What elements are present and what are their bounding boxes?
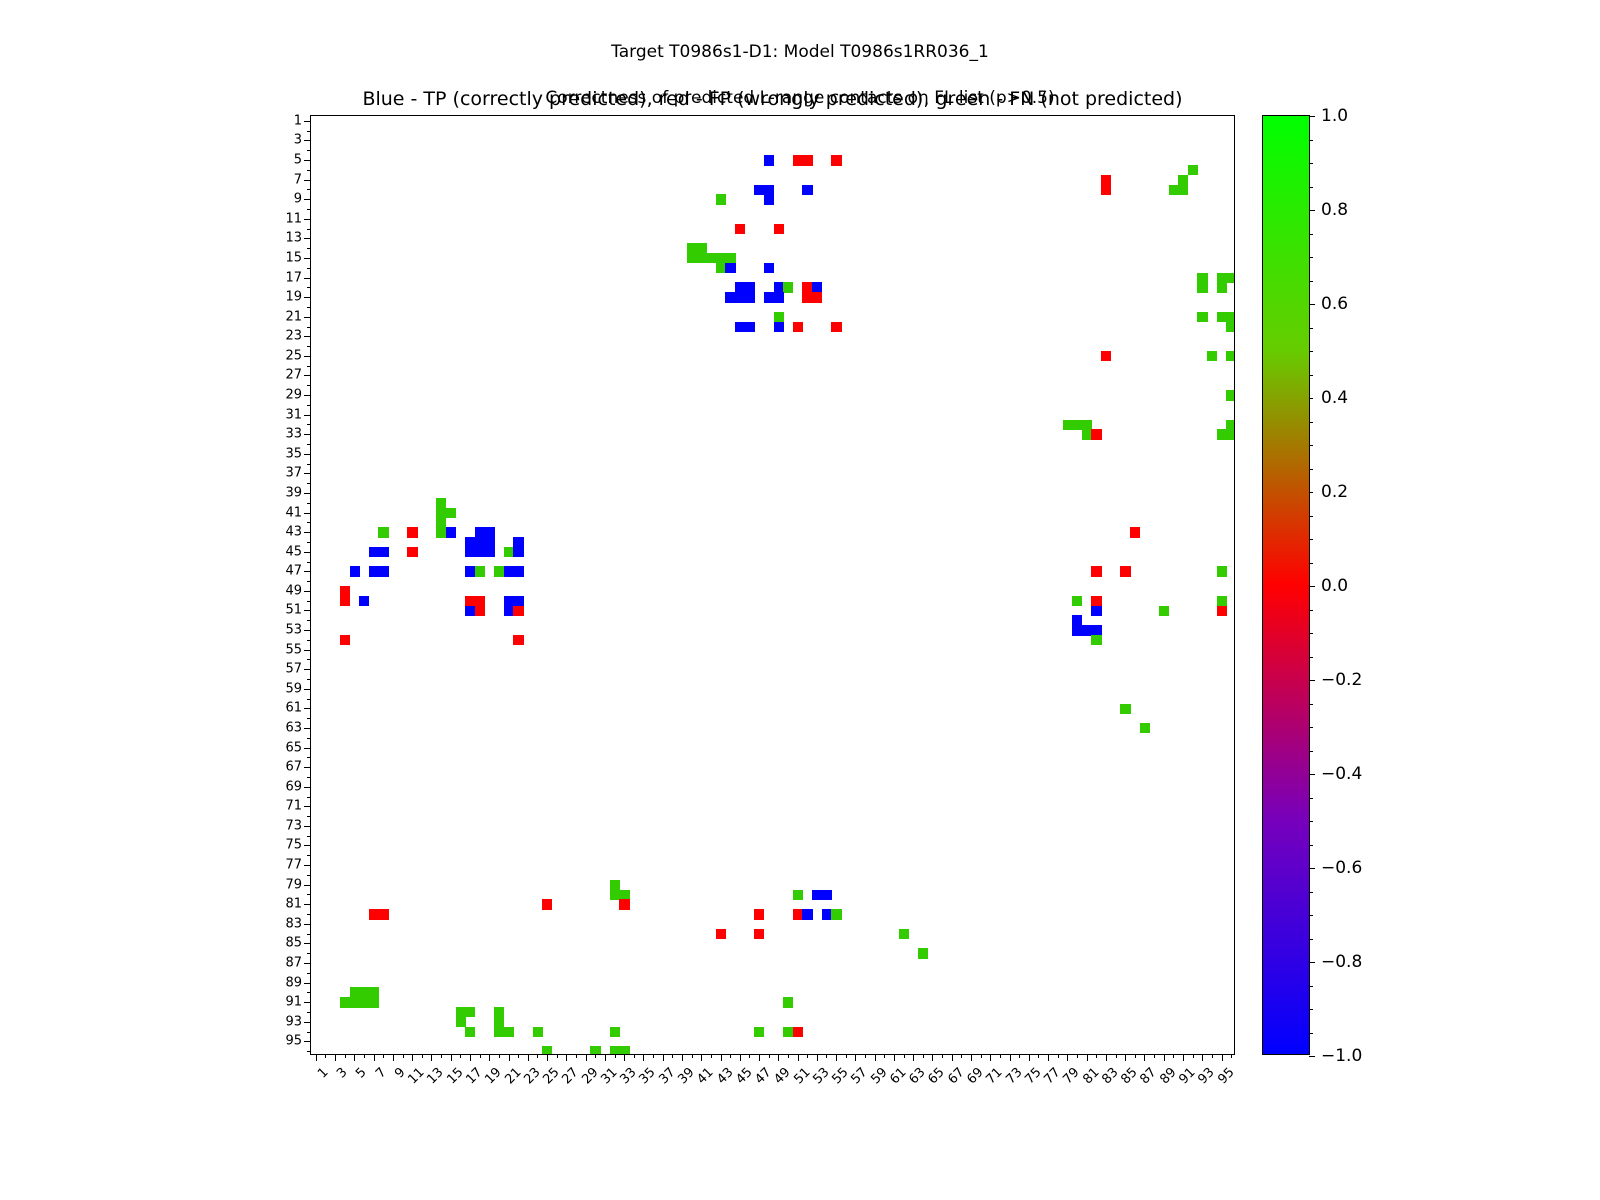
x-axis-tick xyxy=(807,1054,808,1058)
x-axis-tick xyxy=(643,1054,644,1061)
y-axis-tick xyxy=(304,845,311,846)
contact-cell-fn xyxy=(619,1046,629,1054)
x-axis-tick xyxy=(653,1054,654,1058)
y-axis-tick xyxy=(304,728,311,729)
y-axis-tick xyxy=(307,268,311,269)
y-axis-tick-label: 29 xyxy=(242,388,302,403)
contact-cell-fn xyxy=(378,527,388,537)
x-axis-tick xyxy=(1154,1054,1155,1058)
colorbar-tick xyxy=(1309,234,1313,235)
contact-cell-fn xyxy=(783,1027,793,1037)
contact-cell-fn xyxy=(1188,165,1198,175)
colorbar-tick xyxy=(1309,516,1313,517)
x-axis-tick xyxy=(1164,1054,1165,1061)
y-axis-tick xyxy=(304,415,311,416)
colorbar-tick xyxy=(1309,1056,1315,1057)
y-axis-tick xyxy=(304,493,311,494)
contact-cell-fn xyxy=(1197,312,1207,322)
y-axis-tick xyxy=(304,630,311,631)
x-axis-tick xyxy=(894,1054,895,1061)
x-axis-tick xyxy=(711,1054,712,1058)
y-axis-tick-label: 69 xyxy=(242,779,302,794)
contact-cell-fp xyxy=(754,929,764,939)
x-axis-tick xyxy=(875,1054,876,1061)
contact-cell-fp xyxy=(774,224,784,234)
x-axis-tick xyxy=(403,1054,404,1058)
x-axis-tick xyxy=(904,1054,905,1058)
contact-cell-fn xyxy=(610,1027,620,1037)
colorbar-tick xyxy=(1309,798,1313,799)
y-axis-tick-label: 57 xyxy=(242,662,302,677)
contact-cell-fp xyxy=(754,909,764,919)
y-axis-tick-label: 27 xyxy=(242,368,302,383)
x-axis-tick xyxy=(547,1054,548,1061)
y-axis-tick xyxy=(304,1022,311,1023)
x-axis-tick xyxy=(663,1054,664,1061)
y-axis-tick xyxy=(304,983,311,984)
x-axis-tick xyxy=(499,1054,500,1058)
y-axis-tick xyxy=(307,718,311,719)
y-axis-tick xyxy=(304,219,311,220)
y-axis-tick xyxy=(307,444,311,445)
contact-cell-tp xyxy=(359,596,369,606)
x-axis-tick xyxy=(441,1054,442,1058)
x-axis-tick xyxy=(817,1054,818,1061)
y-axis-tick xyxy=(307,170,311,171)
y-axis-tick-label: 53 xyxy=(242,623,302,638)
contact-cell-fn xyxy=(590,1046,600,1054)
y-axis-tick xyxy=(307,855,311,856)
y-axis-tick xyxy=(307,973,311,974)
contact-cell-fp xyxy=(513,635,523,645)
y-axis-tick xyxy=(307,209,311,210)
y-axis-tick-label: 37 xyxy=(242,466,302,481)
y-axis-tick xyxy=(304,748,311,749)
colorbar-tick-label: 0.4 xyxy=(1321,388,1348,408)
y-axis-tick xyxy=(307,581,311,582)
colorbar-tick xyxy=(1309,257,1313,258)
contact-cell-fn xyxy=(1226,429,1234,439)
y-axis-tick xyxy=(304,375,311,376)
y-axis-tick-label: 21 xyxy=(242,309,302,324)
x-axis-tick xyxy=(1183,1054,1184,1061)
y-axis-tick-label: 59 xyxy=(242,681,302,696)
contact-cell-fp xyxy=(793,1027,803,1037)
y-axis-tick-label: 83 xyxy=(242,916,302,931)
contact-cell-fn xyxy=(716,194,726,204)
colorbar-tick xyxy=(1309,563,1313,564)
y-axis-tick-label: 87 xyxy=(242,955,302,970)
x-axis-tick-label: 95 xyxy=(1215,1065,1237,1087)
x-axis-tick xyxy=(595,1054,596,1058)
y-axis-tick xyxy=(307,464,311,465)
x-axis-tick xyxy=(557,1054,558,1058)
x-axis-tick xyxy=(335,1054,336,1061)
y-axis-tick-label: 45 xyxy=(242,544,302,559)
x-axis-tick xyxy=(1067,1054,1068,1061)
x-axis-tick xyxy=(682,1054,683,1061)
colorbar-tick xyxy=(1309,586,1315,587)
x-axis-tick xyxy=(509,1054,510,1061)
contact-cell-fp xyxy=(802,155,812,165)
colorbar-tick xyxy=(1309,774,1315,775)
x-axis-tick xyxy=(942,1054,943,1058)
colorbar-tick xyxy=(1309,657,1313,658)
contact-cell-fn xyxy=(1207,351,1217,361)
colorbar-tick xyxy=(1309,304,1315,305)
y-axis-tick xyxy=(307,914,311,915)
x-axis-tick xyxy=(576,1054,577,1058)
y-axis-tick xyxy=(307,620,311,621)
x-axis-tick xyxy=(586,1054,587,1061)
x-axis-tick xyxy=(730,1054,731,1058)
contact-cell-fn xyxy=(831,909,841,919)
colorbar-tick-label: 0.2 xyxy=(1321,482,1348,502)
y-axis-tick xyxy=(304,904,311,905)
x-axis-tick xyxy=(470,1054,471,1061)
y-axis-tick xyxy=(307,562,311,563)
x-axis-tick xyxy=(865,1054,866,1058)
y-axis-tick-label: 93 xyxy=(242,1014,302,1029)
y-axis-tick-label: 51 xyxy=(242,603,302,618)
colorbar-tick xyxy=(1309,915,1313,916)
contact-cell-fn xyxy=(1120,704,1130,714)
colorbar-tick xyxy=(1309,445,1313,446)
x-axis-tick xyxy=(990,1054,991,1061)
contact-cell-tp xyxy=(378,547,388,557)
x-axis-tick xyxy=(316,1054,317,1061)
contact-cell-fn xyxy=(1226,273,1234,283)
colorbar-tick-label: −0.2 xyxy=(1321,670,1362,690)
y-axis-tick xyxy=(307,229,311,230)
y-axis-tick-label: 95 xyxy=(242,1034,302,1049)
contact-cell-fp xyxy=(542,899,552,909)
x-axis-tick xyxy=(759,1054,760,1061)
colorbar-tick xyxy=(1309,375,1313,376)
x-axis-tick xyxy=(1106,1054,1107,1061)
contact-cell-fp xyxy=(812,292,822,302)
x-axis-tick xyxy=(923,1054,924,1058)
x-axis-tick xyxy=(1010,1054,1011,1061)
colorbar-tick-label: −0.6 xyxy=(1321,858,1362,878)
y-axis-tick xyxy=(304,767,311,768)
suptitle-line-1: Target T0986s1-D1: Model T0986s1RR036_1 xyxy=(611,42,989,62)
contact-cell-tp xyxy=(513,566,523,576)
contact-cell-fp xyxy=(1101,185,1111,195)
y-axis-tick-label: 7 xyxy=(242,172,302,187)
x-axis-tick-label: 1 xyxy=(315,1065,331,1081)
contact-cell-fn xyxy=(793,890,803,900)
contact-cell-fp xyxy=(407,547,417,557)
y-axis-tick xyxy=(307,248,311,249)
contact-cell-tp xyxy=(774,292,784,302)
y-axis-tick xyxy=(307,346,311,347)
colorbar-tick xyxy=(1309,351,1313,352)
contact-cell-fp xyxy=(831,155,841,165)
y-axis-tick xyxy=(304,180,311,181)
colorbar-tick xyxy=(1309,939,1313,940)
y-axis-tick-label: 17 xyxy=(242,270,302,285)
contact-cell-tp xyxy=(745,322,755,332)
contact-cell-fn xyxy=(504,1027,514,1037)
y-axis-tick xyxy=(307,699,311,700)
y-axis-tick xyxy=(304,885,311,886)
colorbar-tick xyxy=(1309,986,1313,987)
x-axis-tick xyxy=(971,1054,972,1061)
y-axis-tick xyxy=(304,258,311,259)
y-axis-tick xyxy=(304,297,311,298)
colorbar-tick xyxy=(1309,539,1313,540)
contact-cell-fp xyxy=(513,606,523,616)
x-axis-tick xyxy=(431,1054,432,1061)
x-axis-tick-label: 5 xyxy=(354,1065,370,1081)
x-axis-tick xyxy=(1029,1054,1030,1061)
y-axis-tick xyxy=(304,650,311,651)
y-axis-tick-label: 81 xyxy=(242,897,302,912)
y-axis-tick xyxy=(307,542,311,543)
x-axis-tick xyxy=(624,1054,625,1061)
y-axis-tick-label: 39 xyxy=(242,485,302,500)
y-axis-tick xyxy=(304,963,311,964)
y-axis-tick xyxy=(307,366,311,367)
colorbar[interactable]: 1.00.80.60.40.20.0−0.2−0.4−0.6−0.8−1.0 xyxy=(1262,115,1310,1055)
colorbar-tick xyxy=(1309,163,1313,164)
colorbar-tick xyxy=(1309,610,1313,611)
y-axis-tick xyxy=(307,385,311,386)
y-axis-tick-label: 77 xyxy=(242,858,302,873)
y-axis-tick-label: 23 xyxy=(242,329,302,344)
y-axis-tick xyxy=(304,238,311,239)
x-axis-tick xyxy=(364,1054,365,1058)
y-axis-tick xyxy=(307,327,311,328)
y-axis-tick-label: 55 xyxy=(242,642,302,657)
colorbar-tick xyxy=(1309,727,1313,728)
y-axis-tick xyxy=(307,777,311,778)
y-axis-tick xyxy=(307,953,311,954)
y-axis-tick xyxy=(307,934,311,935)
y-axis-tick xyxy=(304,454,311,455)
y-axis-tick-label: 65 xyxy=(242,740,302,755)
y-axis-tick-label: 1 xyxy=(242,113,302,128)
x-axis-tick xyxy=(1058,1054,1059,1058)
x-axis-tick xyxy=(615,1054,616,1058)
x-axis-tick xyxy=(383,1054,384,1058)
y-axis-tick-label: 63 xyxy=(242,720,302,735)
y-axis-tick xyxy=(307,1012,311,1013)
contact-map-cells xyxy=(311,116,1234,1054)
x-axis-tick-label: 3 xyxy=(334,1065,350,1081)
y-axis-tick-label: 3 xyxy=(242,133,302,148)
x-axis-tick xyxy=(1116,1054,1117,1058)
y-axis-tick xyxy=(307,816,311,817)
contact-cell-fn xyxy=(918,948,928,958)
x-axis-tick xyxy=(1048,1054,1049,1061)
contact-cell-fn xyxy=(1197,282,1207,292)
contact-cell-fn xyxy=(783,997,793,1007)
x-axis-tick xyxy=(913,1054,914,1061)
y-axis-tick xyxy=(307,150,311,151)
y-axis-tick xyxy=(304,787,311,788)
contact-cell-fn xyxy=(1140,723,1150,733)
x-axis-tick xyxy=(393,1054,394,1061)
colorbar-tick xyxy=(1309,962,1315,963)
x-axis-tick xyxy=(1125,1054,1126,1061)
colorbar-tick-label: 0.8 xyxy=(1321,200,1348,220)
contact-cell-fp xyxy=(619,899,629,909)
x-axis-tick xyxy=(1212,1054,1213,1058)
y-axis-tick xyxy=(304,943,311,944)
colorbar-tick xyxy=(1309,751,1313,752)
y-axis-tick-label: 71 xyxy=(242,799,302,814)
x-axis-tick xyxy=(528,1054,529,1061)
x-axis-tick xyxy=(778,1054,779,1061)
y-axis-tick-label: 73 xyxy=(242,818,302,833)
x-axis-tick xyxy=(1144,1054,1145,1061)
x-axis-tick xyxy=(788,1054,789,1058)
x-axis-tick xyxy=(374,1054,375,1061)
contact-map-plot[interactable]: 1357911131517192123252729313335373941434… xyxy=(310,115,1235,1055)
y-axis-tick xyxy=(307,659,311,660)
contact-cell-tp xyxy=(774,322,784,332)
contact-cell-fn xyxy=(899,929,909,939)
colorbar-tick-label: −1.0 xyxy=(1321,1046,1362,1066)
y-axis-tick xyxy=(304,924,311,925)
colorbar-tick xyxy=(1309,633,1313,634)
contact-cell-fn xyxy=(783,282,793,292)
y-axis-tick xyxy=(304,571,311,572)
x-axis-tick xyxy=(1077,1054,1078,1058)
colorbar-tick-label: −0.4 xyxy=(1321,764,1362,784)
y-axis-tick xyxy=(304,160,311,161)
colorbar-tick-label: 0.6 xyxy=(1321,294,1348,314)
contact-cell-tp xyxy=(802,909,812,919)
y-axis-tick-label: 5 xyxy=(242,153,302,168)
y-axis-tick xyxy=(304,610,311,611)
y-axis-tick-label: 9 xyxy=(242,192,302,207)
contact-cell-fp xyxy=(340,596,350,606)
y-axis-tick-label: 31 xyxy=(242,407,302,422)
x-axis-tick xyxy=(769,1054,770,1058)
colorbar-tick xyxy=(1309,892,1313,893)
contact-cell-fp xyxy=(793,322,803,332)
y-axis-tick xyxy=(304,1041,311,1042)
x-axis-tick xyxy=(826,1054,827,1058)
contact-cell-tp xyxy=(484,547,494,557)
contact-cell-fp xyxy=(831,322,841,332)
contact-cell-fn xyxy=(1091,635,1101,645)
x-axis-tick xyxy=(345,1054,346,1058)
contact-cell-tp xyxy=(725,263,735,273)
y-axis-tick xyxy=(304,395,311,396)
y-axis-tick xyxy=(307,601,311,602)
x-axis-tick xyxy=(1019,1054,1020,1058)
contact-cell-tp xyxy=(822,890,832,900)
y-axis-tick xyxy=(304,317,311,318)
contact-cell-fp xyxy=(1101,351,1111,361)
contact-cell-fn xyxy=(1226,322,1234,332)
x-axis-tick xyxy=(1038,1054,1039,1058)
colorbar-tick xyxy=(1309,1033,1313,1034)
contact-cell-tp xyxy=(764,194,774,204)
y-axis-tick xyxy=(304,1002,311,1003)
colorbar-tick xyxy=(1309,821,1313,822)
contact-cell-tp xyxy=(513,547,523,557)
axes-title-legend: Blue - TP (correctly predicted), red - F… xyxy=(310,88,1235,110)
contact-cell-fp xyxy=(378,909,388,919)
y-axis-tick xyxy=(307,1051,311,1052)
y-axis-tick-label: 25 xyxy=(242,348,302,363)
contact-cell-fn xyxy=(542,1046,552,1054)
contact-cell-tp xyxy=(745,292,755,302)
y-axis-tick xyxy=(304,552,311,553)
y-axis-tick-label: 67 xyxy=(242,760,302,775)
y-axis-tick xyxy=(304,591,311,592)
y-axis-tick-label: 89 xyxy=(242,975,302,990)
y-axis-tick xyxy=(307,307,311,308)
contact-cell-fp xyxy=(716,929,726,939)
contact-cell-fp xyxy=(340,635,350,645)
contact-cell-fn xyxy=(1217,282,1227,292)
contact-cell-fn xyxy=(1178,185,1188,195)
contact-cell-tp xyxy=(802,185,812,195)
y-axis-tick-label: 33 xyxy=(242,427,302,442)
contact-cell-fp xyxy=(475,606,485,616)
contact-cell-tp xyxy=(764,263,774,273)
y-axis-tick xyxy=(307,836,311,837)
figure-canvas: Target T0986s1-D1: Model T0986s1RR036_1 … xyxy=(0,0,1600,1200)
x-axis-tick xyxy=(605,1054,606,1061)
contact-cell-tp xyxy=(446,527,456,537)
x-axis-tick xyxy=(451,1054,452,1061)
x-axis-tick xyxy=(1173,1054,1174,1058)
x-axis-tick xyxy=(884,1054,885,1058)
y-axis-tick xyxy=(307,875,311,876)
colorbar-tick xyxy=(1309,398,1313,399)
x-axis-tick xyxy=(480,1054,481,1058)
y-axis-tick xyxy=(304,532,311,533)
y-axis-tick xyxy=(304,826,311,827)
contact-cell-fp xyxy=(1120,566,1130,576)
y-axis-tick-label: 19 xyxy=(242,290,302,305)
contact-cell-fp xyxy=(1217,606,1227,616)
contact-cell-fn xyxy=(1226,420,1234,430)
y-axis-tick-label: 15 xyxy=(242,250,302,265)
x-axis-tick xyxy=(740,1054,741,1061)
x-axis-tick xyxy=(721,1054,722,1061)
y-axis-tick xyxy=(304,336,311,337)
contact-cell-fn xyxy=(1159,606,1169,616)
y-axis-tick xyxy=(304,865,311,866)
colorbar-tick xyxy=(1309,680,1315,681)
colorbar-tick xyxy=(1309,187,1313,188)
y-axis-tick xyxy=(307,679,311,680)
y-axis-tick xyxy=(307,640,311,641)
y-axis-tick xyxy=(307,522,311,523)
y-axis-tick xyxy=(307,189,311,190)
x-axis-tick xyxy=(634,1054,635,1058)
x-axis-tick xyxy=(855,1054,856,1061)
contact-cell-fp xyxy=(1130,527,1140,537)
y-axis-tick xyxy=(304,708,311,709)
y-axis-tick xyxy=(304,806,311,807)
y-axis-tick-label: 13 xyxy=(242,231,302,246)
colorbar-tick xyxy=(1309,328,1313,329)
x-axis-tick xyxy=(354,1054,355,1061)
y-axis-tick xyxy=(307,992,311,993)
x-axis-tick xyxy=(489,1054,490,1061)
contact-cell-fn xyxy=(465,1007,475,1017)
contact-cell-tp xyxy=(378,566,388,576)
